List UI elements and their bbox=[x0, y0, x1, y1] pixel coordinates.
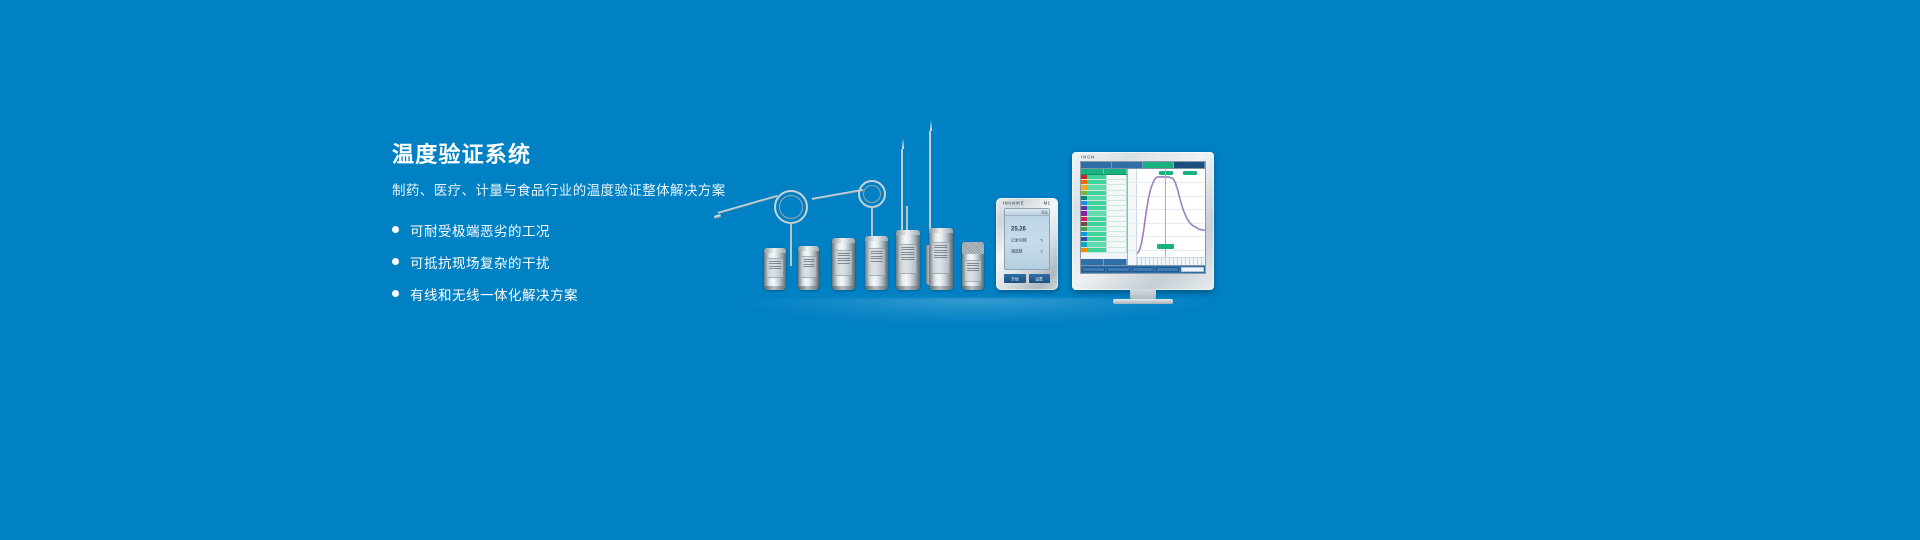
toolbar-status-running bbox=[1143, 162, 1174, 168]
bottom-button-exit[interactable] bbox=[1181, 267, 1204, 272]
logger-label bbox=[932, 242, 949, 274]
monitor-body bbox=[1081, 169, 1205, 265]
reader-brand-row: INGNIKE M1 bbox=[996, 198, 1058, 205]
bottom-button-curve-analysis[interactable] bbox=[1107, 267, 1130, 272]
bottom-button-export[interactable] bbox=[1156, 267, 1179, 272]
sintered-filter-cap bbox=[962, 242, 984, 254]
reader-settings-button[interactable]: 设置 bbox=[1029, 274, 1050, 283]
monitor-base bbox=[1113, 299, 1173, 304]
logger-label bbox=[899, 244, 916, 274]
probe-coil bbox=[858, 180, 886, 208]
toolbar-button-file[interactable] bbox=[1081, 162, 1112, 168]
logger-small-1 bbox=[764, 248, 786, 290]
logger-tall-2 bbox=[929, 228, 953, 290]
logger-label bbox=[868, 248, 885, 276]
chart-cursor-line[interactable] bbox=[1165, 169, 1166, 257]
bottom-button-data-acquisition[interactable] bbox=[1082, 267, 1105, 272]
logger-label bbox=[965, 260, 981, 282]
channel-table bbox=[1081, 169, 1128, 265]
bullet-dot-icon bbox=[392, 258, 399, 265]
logger-small-2 bbox=[798, 246, 819, 290]
chart-legend-badge bbox=[1183, 171, 1197, 175]
monitor-screen bbox=[1080, 161, 1206, 274]
toolbar-button-setup[interactable] bbox=[1112, 162, 1143, 168]
reader-titlebar: 验证 bbox=[1005, 209, 1049, 216]
logger-mesh-cap bbox=[962, 242, 984, 290]
logger-antenna bbox=[906, 206, 908, 230]
reader-row-label: 通道数 bbox=[1011, 248, 1023, 253]
table-row[interactable] bbox=[1081, 248, 1127, 253]
reader-row: 记录间隔 5 bbox=[1011, 238, 1043, 242]
reader-start-label: 开始 bbox=[1011, 276, 1019, 281]
logger-medium-2 bbox=[865, 236, 888, 290]
logger-label bbox=[835, 250, 852, 276]
reader-settings-label: 设置 bbox=[1035, 276, 1043, 281]
probe-tip-icon bbox=[714, 214, 722, 219]
reader-brand-label: INGNIKE bbox=[1003, 201, 1024, 206]
monitor-toolbar bbox=[1081, 162, 1205, 169]
monitor-brand-label: INON bbox=[1081, 154, 1095, 159]
toolbar-button-alarm[interactable] bbox=[1174, 162, 1205, 168]
bottom-button-report[interactable] bbox=[1132, 267, 1155, 272]
bullet-dot-icon bbox=[392, 290, 399, 297]
logger-label bbox=[767, 258, 783, 278]
reader-row: 通道数 2 bbox=[1011, 249, 1043, 253]
probe-stem bbox=[790, 222, 792, 266]
logger-medium-1 bbox=[832, 238, 855, 290]
probe-lead-wire bbox=[718, 195, 778, 214]
monitor-bottom-toolbar bbox=[1081, 265, 1205, 273]
reader-readout: 25.26 记录间隔 5 通道数 2 bbox=[1005, 216, 1049, 269]
table-header-temperature bbox=[1104, 169, 1127, 174]
feature-label: 可耐受极端恶劣的工况 bbox=[410, 220, 550, 240]
panel-monitor[interactable]: INON bbox=[1072, 152, 1214, 290]
needle-tip-icon bbox=[930, 120, 932, 131]
table-header-channel bbox=[1081, 169, 1104, 174]
needle-tip-icon bbox=[902, 138, 904, 149]
probe-lead-wire bbox=[812, 189, 864, 200]
chart-x-axis bbox=[1137, 257, 1205, 265]
reader-row-value: 2 bbox=[1041, 248, 1043, 253]
chart-cursor-tag bbox=[1157, 244, 1174, 249]
bullet-dot-icon bbox=[392, 226, 399, 233]
logger-tall-1 bbox=[896, 230, 920, 290]
reader-start-button[interactable]: 开始 bbox=[1004, 274, 1025, 283]
reader-screen: 验证 25.26 记录间隔 5 通道数 2 bbox=[1004, 208, 1050, 270]
reader-main-row: 25.26 bbox=[1011, 226, 1043, 231]
temperature-chart bbox=[1128, 169, 1205, 265]
table-body bbox=[1081, 175, 1127, 259]
reader-row-value: 5 bbox=[1041, 237, 1043, 242]
reader-screen-title: 验证 bbox=[1041, 209, 1048, 214]
handheld-reader[interactable]: INGNIKE M1 验证 25.26 记录间隔 5 通道数 bbox=[996, 198, 1058, 290]
probe-coil bbox=[774, 190, 808, 224]
feature-label: 有线和无线一体化解决方案 bbox=[410, 284, 578, 304]
banner-root: 温度验证系统 制药、医疗、计量与食品行业的温度验证整体解决方案 可耐受极端恶劣的… bbox=[0, 0, 1920, 540]
reader-row-label: 记录间隔 bbox=[1011, 237, 1027, 242]
chart-line-temperature bbox=[1137, 177, 1205, 254]
reader-button-row: 开始 设置 bbox=[1004, 274, 1050, 287]
logger-label bbox=[801, 256, 816, 278]
reader-model-label: M1 bbox=[1044, 201, 1051, 206]
product-photo: INGNIKE M1 验证 25.26 记录间隔 5 通道数 bbox=[700, 120, 1220, 320]
reader-main-value: 25.26 bbox=[1011, 225, 1026, 232]
feature-label: 可抵抗现场复杂的干扰 bbox=[410, 252, 550, 272]
